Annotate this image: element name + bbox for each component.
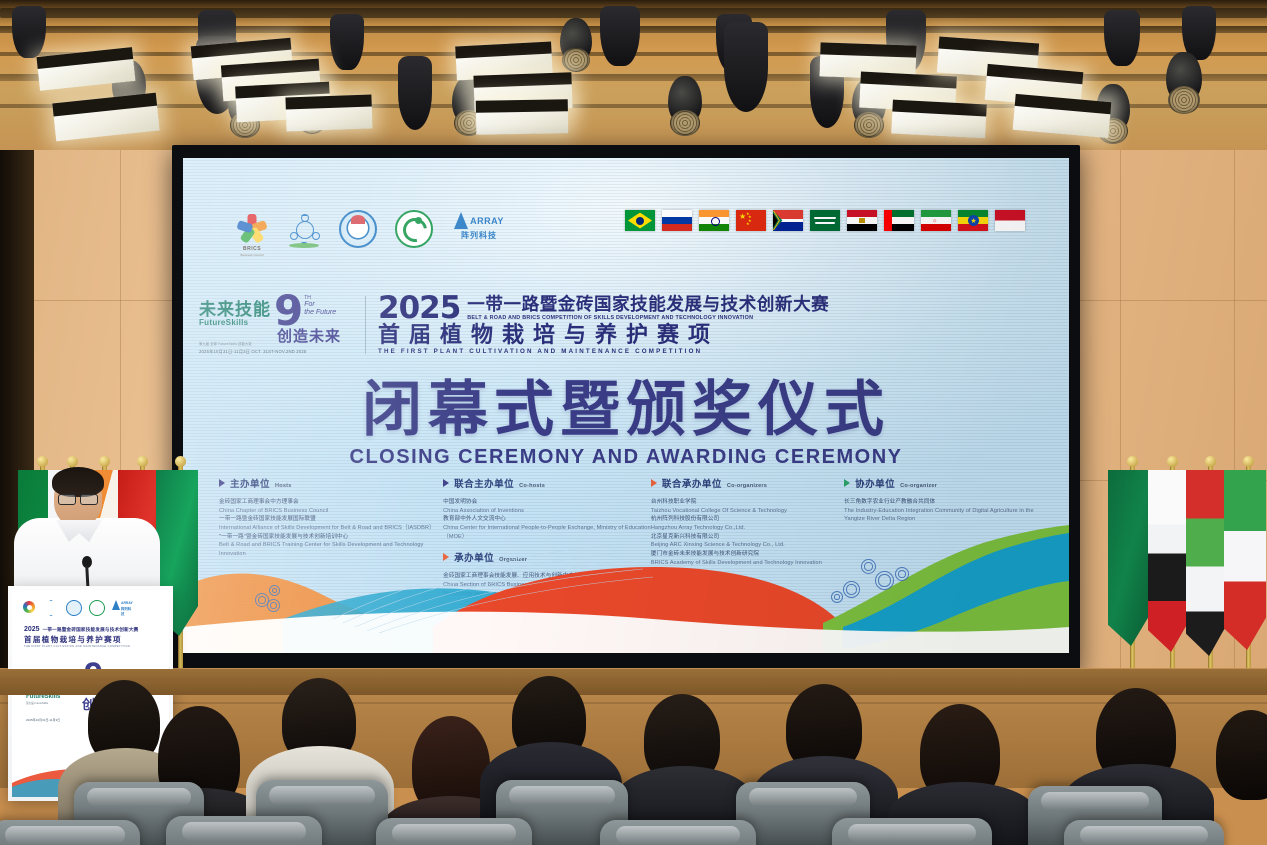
brics-logo-sublabel: Business Council <box>240 253 263 257</box>
flag-indonesia <box>995 210 1025 231</box>
audience-chair <box>376 818 532 845</box>
audience-area <box>0 670 1267 845</box>
screen-content: BRICS Business Council <box>183 158 1069 653</box>
fs-for-line1: For <box>304 301 336 309</box>
org-en: China Association of Inventions <box>443 507 651 516</box>
bullet-triangle-icon <box>651 479 657 487</box>
par-can-lens <box>670 110 700 136</box>
moving-head-light <box>398 56 432 130</box>
china-inventions-logo-icon <box>339 210 377 248</box>
array-logo-cn: 阵列科技 <box>461 230 497 241</box>
speaker-hair <box>52 467 104 497</box>
event-cn-line1: 一带一路暨金砖国家技能发展与技术创新大赛 <box>467 296 829 314</box>
flag-uae-stage <box>1186 470 1228 656</box>
speaker-glasses-left <box>58 494 76 505</box>
flag-ethiopia: ★ <box>958 210 988 231</box>
brics-logo-label: BRICS <box>243 246 261 252</box>
moving-head-light <box>724 22 768 112</box>
fs-for-line2: the Future <box>304 309 336 317</box>
flag-russia <box>662 210 692 231</box>
flag-brazil <box>625 210 655 231</box>
bullet-triangle-icon <box>844 479 850 487</box>
flag-pole-finial <box>67 456 78 467</box>
event-en-line1: BELT & ROAD AND BRICS COMPETITION OF SKI… <box>467 315 829 321</box>
coorg2-head-en: Co-organizer <box>900 483 937 489</box>
podium-year: 2025 <box>24 626 40 633</box>
flag-pole-finial <box>37 456 48 467</box>
array-logo-label: ARRAY <box>470 216 504 226</box>
flag-china: ★ ★ ★ ★ ★ <box>736 210 766 231</box>
moving-head-light <box>600 6 640 66</box>
cohosts-head-cn: 联合主办单位 <box>454 476 514 490</box>
future-skills-logo: 未来技能 FutureSkills 9 TH For the Future <box>199 295 353 355</box>
audience-chair <box>0 820 140 845</box>
org-cn: 台州科技职业学院 <box>651 498 844 507</box>
hosts-head-en: Hosts <box>275 483 292 489</box>
wave-graphics <box>183 523 1069 653</box>
gear-icon <box>269 585 280 596</box>
coorg-head-en: Co-organizers <box>727 483 767 489</box>
member-country-flags: ★ ★ ★ ★ ★ <box>625 210 1025 231</box>
flag-india <box>699 210 729 231</box>
flag-pole-finial <box>1127 456 1138 467</box>
ceiling-rig <box>0 0 1267 152</box>
bullet-triangle-icon <box>219 479 225 487</box>
flag-saudi-arabia-stage <box>1108 470 1150 646</box>
audience-chair <box>832 818 992 845</box>
audience-head <box>1216 710 1267 800</box>
podium-brics-logo-icon <box>22 600 36 614</box>
org-cn: 中国发明协会 <box>443 498 651 507</box>
gear-icon <box>895 567 909 581</box>
event-year: 2025 <box>378 295 460 321</box>
org-en: Taizhou Vocational College Of Science & … <box>651 507 844 516</box>
flag-iran: ۞ <box>921 210 951 231</box>
flag-saudi-arabia <box>810 210 840 231</box>
event-banner: 未来技能 FutureSkills 9 TH For the Future <box>199 286 1053 364</box>
fs-sub: 第九届 全球 FutureSkills 技能大赛 <box>199 341 252 346</box>
fs-en-left: FutureSkills <box>199 318 271 327</box>
led-panel-light <box>52 93 159 142</box>
fs-cn-right: 创造未来 <box>277 325 341 346</box>
gear-icon <box>861 559 876 574</box>
flag-pole-finial <box>99 456 110 467</box>
flag-pole-finial <box>1243 456 1254 467</box>
flag-pole-finial <box>1205 456 1216 467</box>
fs-nine-glyph: 9 <box>274 295 303 327</box>
podium-cn1: 一带一路暨金砖国家技能发展与技术创新大赛 <box>43 627 139 633</box>
flag-pole-finial <box>137 456 148 467</box>
audience-floor <box>0 669 1267 695</box>
org-cn: 长三角数字农业行业产教融合共同体 <box>844 498 1047 507</box>
coorg-head-cn: 联合承办单位 <box>662 476 722 490</box>
podium-en: THE FIRST PLANT CULTIVATION AND MAINTENA… <box>24 645 161 648</box>
flag-uae <box>884 210 914 231</box>
gear-icon <box>831 591 843 603</box>
audience-chair <box>1064 820 1224 845</box>
audience-chair <box>166 816 322 845</box>
speaker-glasses-right <box>80 494 98 505</box>
flag-egypt <box>847 210 877 231</box>
podium-array-logo-icon: ARRAY 阵列科技 <box>112 600 134 614</box>
cohosts-head-en: Co-hosts <box>519 483 545 489</box>
flag-south-africa <box>773 210 803 231</box>
gear-icon <box>875 571 894 590</box>
green-circle-logo-icon <box>395 210 433 248</box>
stage-led-screen: BRICS Business Council <box>172 145 1080 673</box>
flag-egypt-stage <box>1148 470 1190 652</box>
flag-iran-stage <box>1224 470 1266 650</box>
podium-cn2: 首届植物栽培与养护赛项 <box>24 634 161 645</box>
fs-cn-left: 未来技能 <box>199 301 271 318</box>
par-can-lens <box>562 48 590 72</box>
flag-pole-finial <box>1167 456 1178 467</box>
fs-date: 2025年10月31日-11月3日 OCT. 31ST-NOV.2ND 2025 <box>199 349 341 355</box>
flag-pole-finial <box>175 456 186 467</box>
gear-icon <box>843 581 860 598</box>
sponsor-logo-row: BRICS Business Council <box>235 210 507 248</box>
conference-photo: BRICS Business Council <box>0 0 1267 845</box>
led-panel-light <box>891 100 987 139</box>
hosts-head-cn: 主办单位 <box>230 476 270 490</box>
coorg2-head-cn: 协办单位 <box>855 476 895 490</box>
brics-logo-icon: BRICS Business Council <box>235 212 269 246</box>
decorative-waves <box>183 523 1069 653</box>
org-en: China Chapter of BRICS Business Council <box>219 507 443 516</box>
podium-logo-row: ARRAY 阵列科技 <box>22 600 134 616</box>
podium-inventions-logo-icon <box>66 600 82 616</box>
org-en: The Industry-Education Integration Commu… <box>844 507 1047 524</box>
ceremony-title-cn: 闭幕式暨颁奖仪式 <box>183 380 1069 440</box>
moving-head-light <box>12 6 46 58</box>
led-panel-light <box>285 95 372 132</box>
gear-icon <box>267 599 280 612</box>
org-cn: 金砖国家工商理事会中方理事会 <box>219 498 443 507</box>
event-en-line2: THE FIRST PLANT CULTIVATION AND MAINTENA… <box>378 348 1053 355</box>
led-panel-light <box>1013 94 1112 138</box>
moving-head-light <box>330 14 364 70</box>
podium-hex-logo-icon <box>43 600 59 616</box>
par-can-lens <box>854 112 884 138</box>
moving-head-light <box>1104 10 1140 66</box>
par-can-lens <box>1168 86 1200 114</box>
stage-flags-right <box>1108 448 1267 688</box>
audience-chair <box>600 820 756 845</box>
podium-green-logo-icon <box>89 600 105 616</box>
event-cn-line2: 首届植物栽培与养护赛项 <box>378 322 1053 347</box>
skills-alliance-hex-icon <box>287 212 321 246</box>
array-technology-logo-icon: ARRAY 阵列科技 <box>451 212 507 246</box>
ceremony-title-en: CLOSING CEREMONY AND AWARDING CEREMONY <box>183 446 1069 469</box>
banner-divider <box>365 296 366 354</box>
podium-title: 2025 一带一路暨金砖国家技能发展与技术创新大赛 首届植物栽培与养护赛项 TH… <box>24 626 161 648</box>
bullet-triangle-icon <box>443 479 449 487</box>
led-panel-light <box>476 99 569 135</box>
ceremony-title: 闭幕式暨颁奖仪式 CLOSING CEREMONY AND AWARDING C… <box>183 380 1069 469</box>
